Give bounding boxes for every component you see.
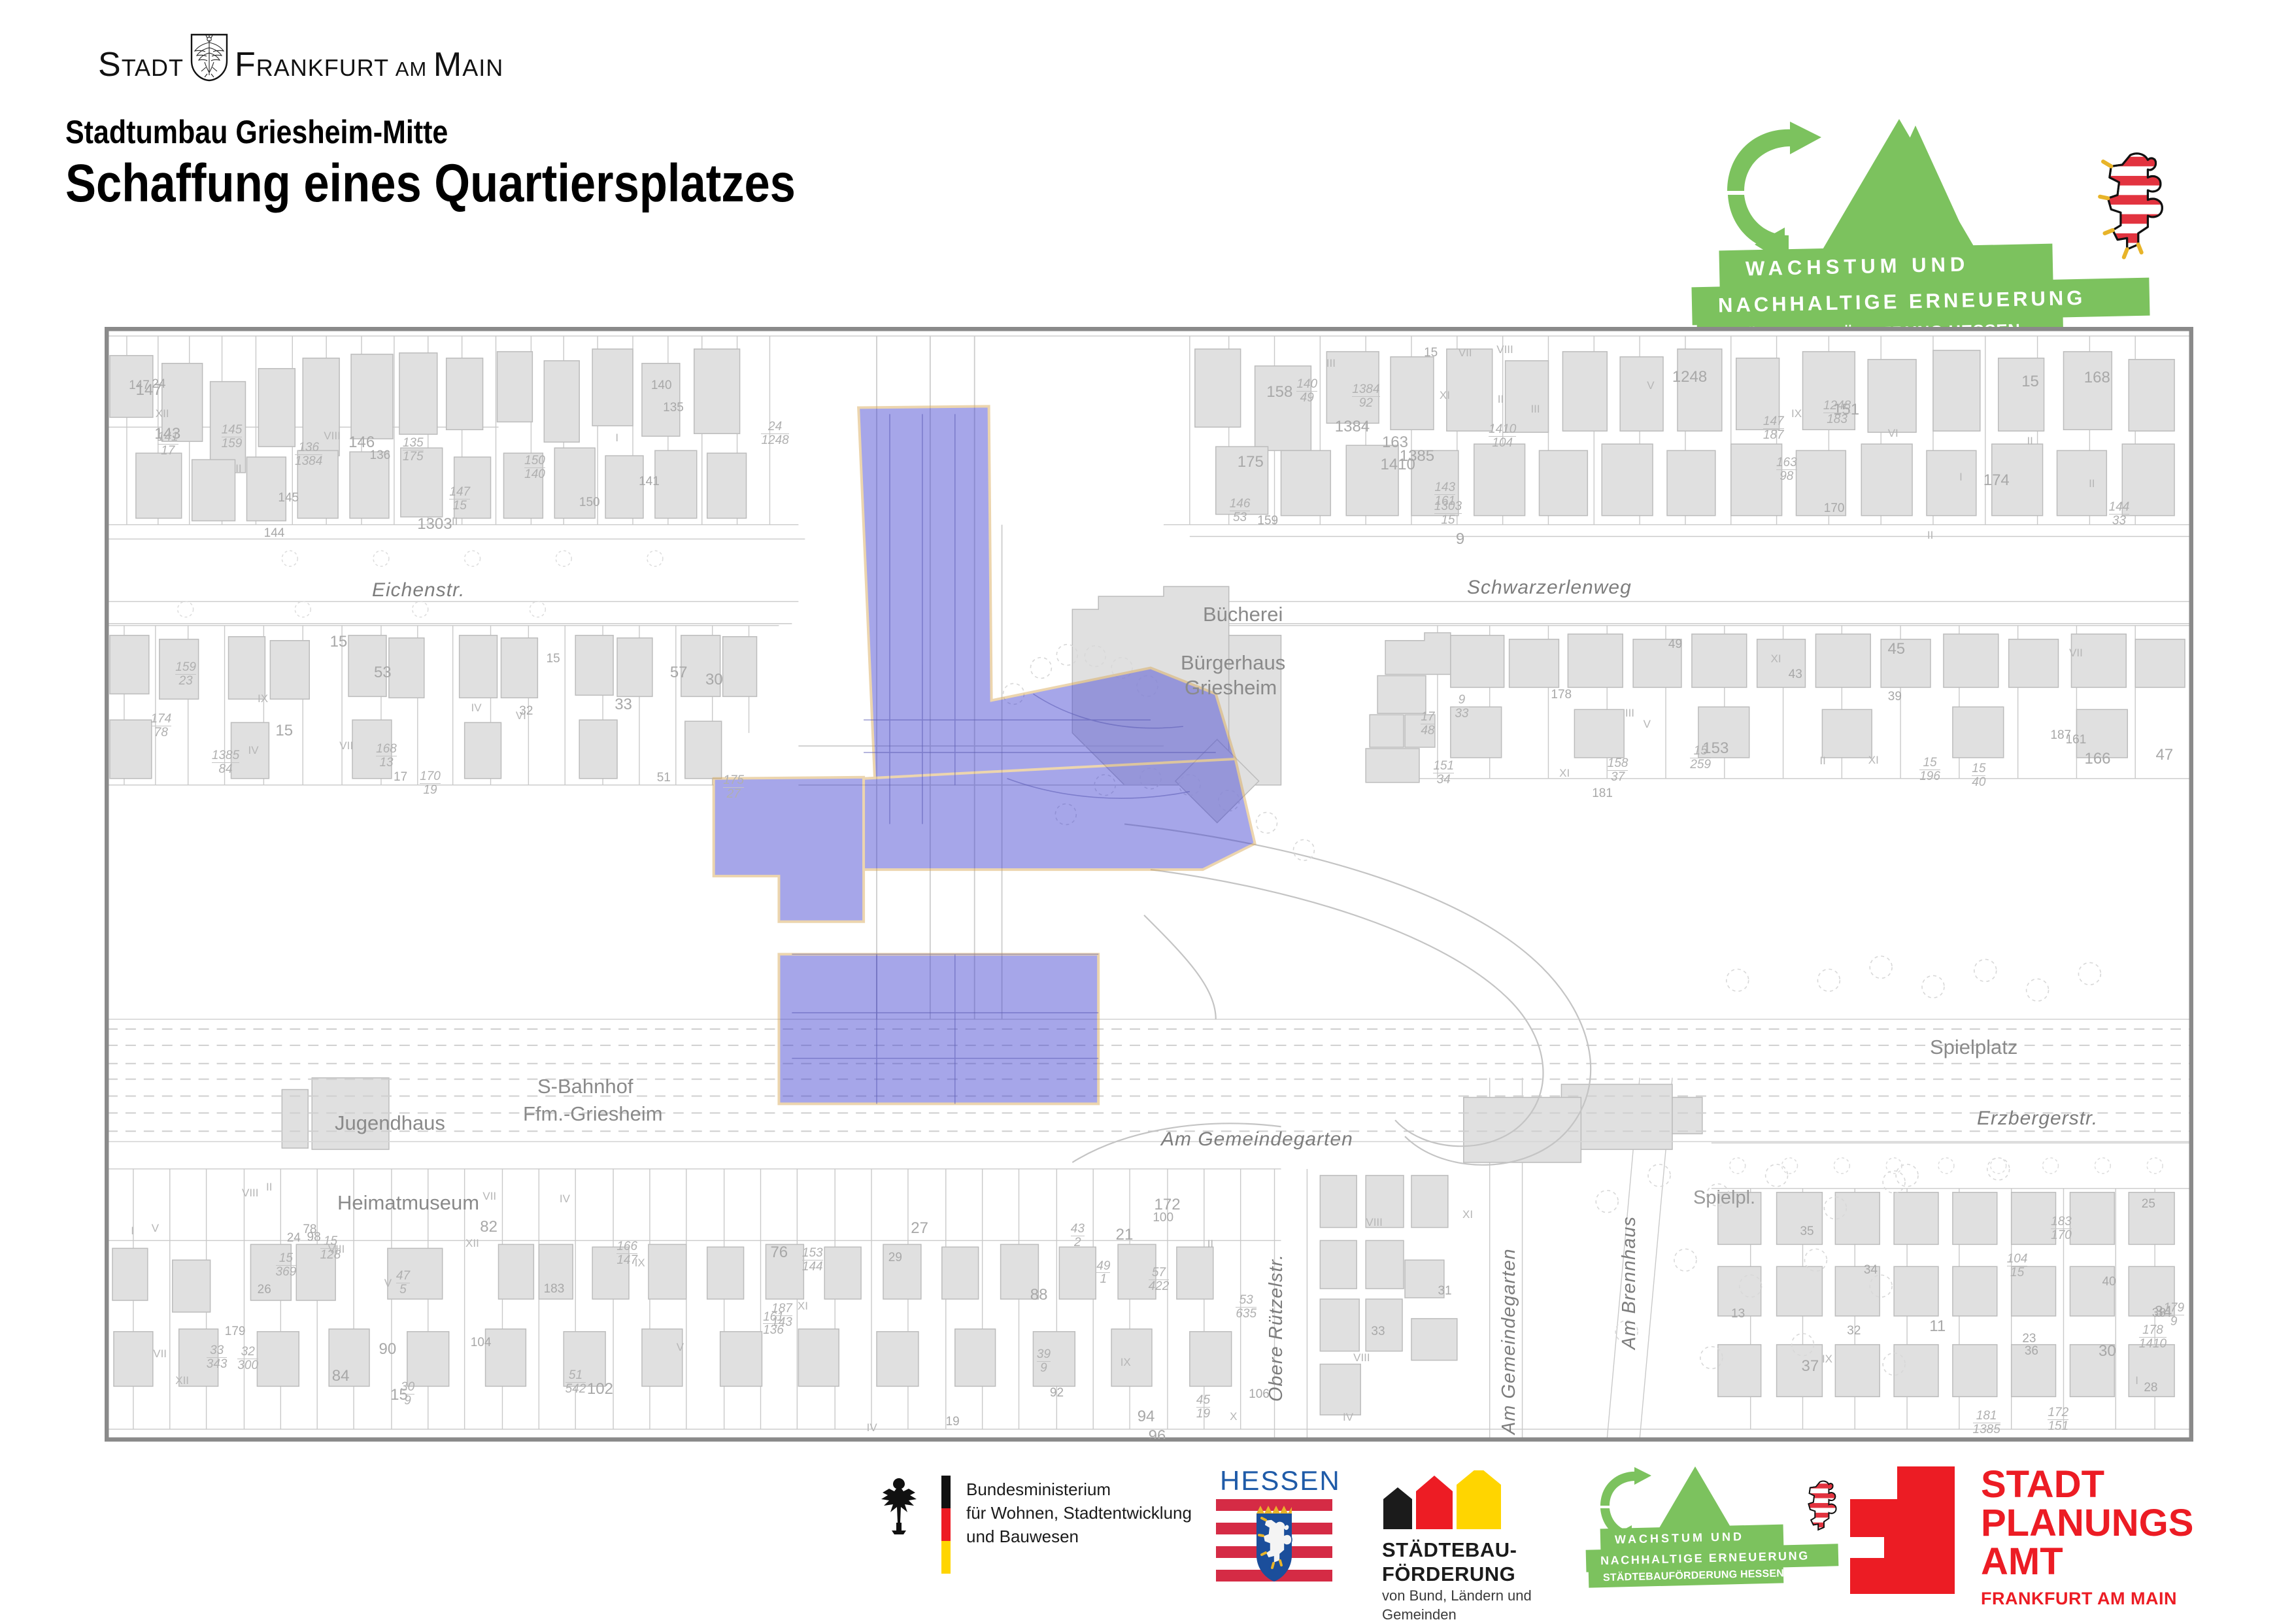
page-subtitle: Stadtumbau Griesheim-Mitte [65, 114, 796, 150]
logo-hessen: HESSEN [1216, 1461, 1347, 1592]
program-logo-line2: NACHHALTIGE ERNEUERUNG [1718, 286, 2086, 318]
city-logo-word-stadt: STADT [98, 48, 184, 82]
sbf-sub-line1: von Bund, Ländern und [1382, 1587, 1532, 1606]
logo-staedtebaufoerderung: STÄDTEBAU- FÖRDERUNG von Bund, Ländern u… [1379, 1461, 1595, 1592]
program-logo-footer-line1: WACHSTUM UND [1615, 1530, 1744, 1547]
hessen-wordmark: HESSEN [1220, 1465, 1341, 1497]
spa-line1: STADT [1981, 1465, 2193, 1504]
bmwsb-line1: Bundesministerium [966, 1478, 1192, 1502]
hessen-lion-icon [2100, 154, 2165, 258]
spa-line2: PLANUNGS [1981, 1504, 2193, 1542]
logo-wachstum-footer: WACHSTUM UND NACHHALTIGE ERNEUERUNG STÄD… [1589, 1461, 1870, 1599]
frankfurt-eagle-crest-icon [190, 33, 228, 82]
program-logo-footer-line3: STÄDTEBAUFÖRDERUNG HESSEN [1603, 1568, 1784, 1584]
page-header: STADT FRANKFURT AM MAIN Stadt [0, 0, 2294, 327]
city-logo-word-frankfurt: FRANKFURT AM MAIN [235, 48, 503, 82]
bmwsb-line3: und Bauwesen [966, 1525, 1192, 1549]
recycle-arrow-icon [1727, 122, 1821, 263]
map-drawing [107, 330, 2191, 1439]
bmwsb-line2: für Wohnen, Stadtentwicklung [966, 1502, 1192, 1525]
stadtplanungsamt-block-mark-icon [1850, 1466, 1955, 1594]
three-houses-icon [1379, 1470, 1517, 1529]
sbf-title-line2: FÖRDERUNG [1382, 1563, 1517, 1587]
program-logo-line1: WACHSTUM UND [1746, 252, 1970, 280]
logo-stadtplanungsamt: STADT PLANUNGS AMT FRANKFURT AM MAIN [1850, 1461, 2190, 1592]
page-footer: Bundesministerium für Wohnen, Stadtentwi… [0, 1461, 2294, 1621]
german-flag-bar-icon [941, 1476, 951, 1574]
hessen-lion-shield-icon [1257, 1506, 1292, 1582]
logo-bmwsb: Bundesministerium für Wohnen, Stadtentwi… [869, 1461, 1209, 1592]
cadastral-map[interactable]: Eichenstr. Schwarzerlenweg Erzbergerstr.… [105, 327, 2193, 1442]
spa-line3: AMT [1981, 1542, 2193, 1581]
title-block: Stadtumbau Griesheim-Mitte Schaffung ein… [65, 114, 915, 212]
program-logo-wachstum: WACHSTUM UND NACHHALTIGE ERNEUERUNG STÄD… [1706, 118, 2223, 347]
bundesadler-icon [869, 1473, 928, 1538]
sbf-title-line1: STÄDTEBAU- [1382, 1538, 1517, 1563]
hessen-flag-icon [1216, 1499, 1332, 1587]
city-logo: STADT FRANKFURT AM MAIN [98, 36, 503, 82]
green-arrow-large-icon [1817, 119, 1981, 258]
spa-sub: FRANKFURT AM MAIN [1981, 1589, 2193, 1609]
page-title: Schaffung eines Quartiersplatzes [65, 156, 796, 212]
hessen-lion-icon-small [1808, 1481, 1838, 1529]
